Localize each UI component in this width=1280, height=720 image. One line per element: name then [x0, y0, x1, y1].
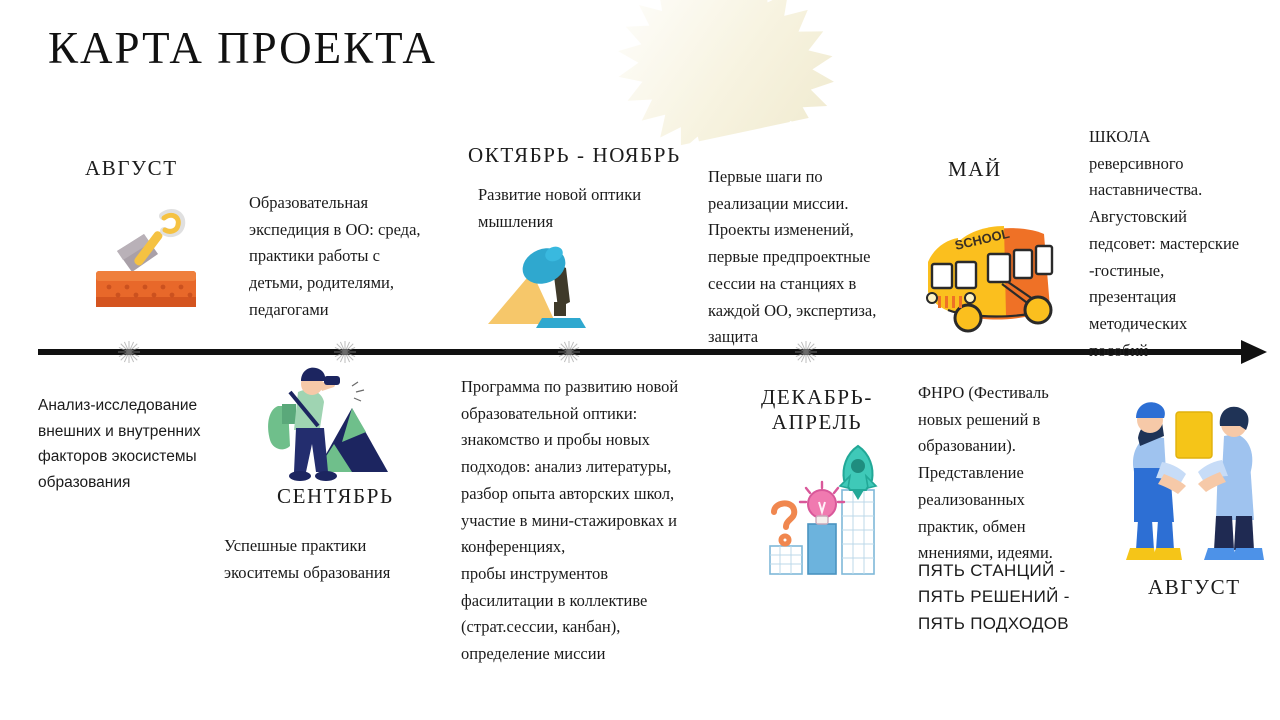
shovel-brick-icon — [84, 196, 208, 324]
hiker-binoculars-icon — [256, 362, 388, 484]
milestone-text-may: Первые шаги по реализации миссии. Проект… — [708, 164, 918, 351]
milestone-month-august-bottom: АВГУСТ — [1148, 575, 1241, 600]
page-title: КАРТА ПРОЕКТА — [48, 22, 437, 74]
milestone-text-august-top: Образовательная экспедиция в ОО: среда, … — [249, 190, 459, 324]
milestone-month-october-november: ОКТЯБРЬ - НОЯБРЬ — [468, 143, 681, 168]
milestone-text-december-april: Программа по развитию новой образователь… — [461, 374, 721, 668]
milestone-month-august-top: АВГУСТ — [85, 156, 178, 181]
milestone-month-september: СЕНТЯБРЬ — [277, 484, 394, 509]
timeline-axis — [38, 349, 1243, 355]
sparkle-icon — [558, 341, 580, 363]
milestone-text-september: Успешные практики экоситемы образования — [224, 533, 454, 586]
school-bus-icon: SCHOOL — [912, 212, 1062, 342]
sparkle-icon — [334, 341, 356, 363]
milestone-text-fnro: ФНРО (Фестиваль новых решений в образова… — [918, 380, 1103, 567]
milestone-text-analysis: Анализ-исследование внешних и внутренних… — [38, 393, 253, 495]
milestone-month-may: МАЙ — [948, 157, 1002, 182]
milestone-text-october-november: Развитие новой оптики мышления — [478, 182, 708, 235]
milestone-highlight-five-stations: ПЯТЬ СТАНЦИЙ - ПЯТЬ РЕШЕНИЙ - ПЯТЬ ПОДХО… — [918, 558, 1118, 637]
milestone-text-school-reverse: ШКОЛА реверсивного наставничества. Авгус… — [1089, 124, 1269, 364]
desk-lamp-icon — [470, 232, 594, 336]
project-map-slide: КАРТА ПРОЕКТА — [0, 0, 1280, 720]
growth-rocket-icon — [756, 440, 888, 576]
handover-people-icon — [1112, 398, 1274, 570]
sparkle-icon — [118, 341, 140, 363]
milestone-month-december-april: ДЕКАБРЬ- АПРЕЛЬ — [761, 385, 873, 435]
